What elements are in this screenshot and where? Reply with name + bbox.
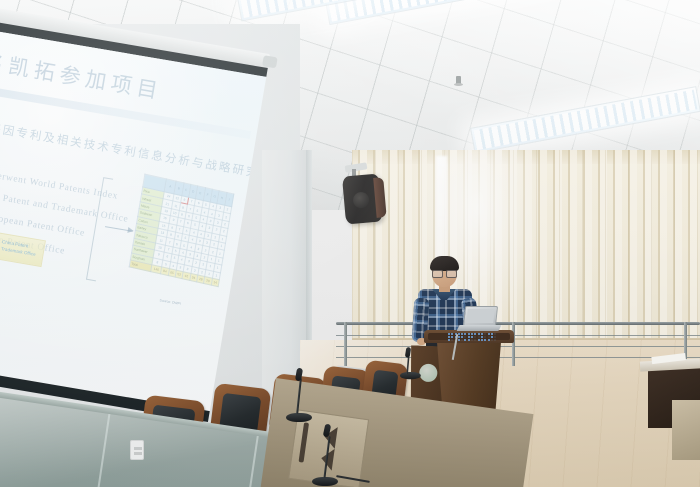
led-pixel	[491, 339, 493, 341]
led-pixel	[451, 339, 453, 341]
led-pixel	[481, 339, 483, 341]
led-pixel	[461, 336, 463, 338]
led-pixel	[474, 339, 476, 341]
led-pixel	[481, 336, 483, 338]
led-pixel	[464, 339, 466, 341]
slide-data-table: ABCDEFGHIRice24129765432Wheat21118754432…	[129, 174, 235, 288]
side-chair	[672, 400, 700, 460]
laptop-keyboard	[457, 325, 502, 331]
led-pixel	[458, 336, 460, 338]
led-pixel	[451, 333, 453, 335]
led-pixel	[474, 336, 476, 338]
led-pixel	[478, 339, 480, 341]
wall-speaker-icon	[342, 173, 383, 224]
led-pixel	[458, 339, 460, 341]
table-microphone	[400, 349, 416, 379]
led-pixel	[448, 339, 450, 341]
led-pixel	[468, 336, 470, 338]
microphone-gooseneck	[323, 436, 330, 478]
led-pixel	[451, 336, 453, 338]
microphone-capsule	[295, 368, 303, 382]
laptop	[458, 306, 498, 334]
led-pixel	[488, 336, 490, 338]
speaker-cone	[352, 191, 369, 208]
logo-line-2: Trademark Office	[1, 246, 37, 257]
rail-top-bar	[336, 322, 700, 325]
led-pixel	[468, 339, 470, 341]
rail-bar	[336, 335, 700, 336]
laptop-screen	[463, 306, 498, 326]
led-pixel	[494, 336, 496, 338]
led-pixel	[471, 336, 473, 338]
led-pixel	[484, 336, 486, 338]
microphone-base	[312, 477, 338, 486]
logo-text: China Patent Trademark Office	[0, 239, 37, 258]
curtain-wall	[352, 150, 700, 340]
led-pixel	[471, 339, 473, 341]
rail-post	[344, 322, 347, 366]
led-pixel	[491, 336, 493, 338]
led-pixel	[488, 339, 490, 341]
rail-bar	[336, 357, 700, 358]
led-pixel	[494, 339, 496, 341]
microphone-base	[286, 413, 312, 422]
table: ABCDEFGHIRice24129765432Wheat21118754432…	[129, 174, 235, 288]
led-pixel	[448, 336, 450, 338]
led-pixel	[461, 339, 463, 341]
table-microphone	[286, 370, 312, 422]
power-outlet-icon	[130, 440, 144, 460]
conference-room-photo: 未名凯拓参加项目 植物基因专利及相关技术专利信息分析与战略研究 Derwent …	[0, 0, 700, 487]
table-microphone	[312, 424, 342, 486]
sprinkler-head-icon	[456, 76, 461, 85]
microphone-gooseneck	[296, 378, 302, 414]
rail-bar	[336, 346, 700, 347]
microphone-base	[400, 372, 421, 379]
led-pixel	[478, 336, 480, 338]
table-total-cell: 14	[211, 278, 219, 287]
led-pixel	[464, 336, 466, 338]
presenter-hair	[430, 256, 459, 271]
led-pixel	[448, 333, 450, 335]
microphone-capsule	[405, 347, 411, 358]
glasses-icon	[432, 270, 457, 276]
led-pixel	[484, 339, 486, 341]
